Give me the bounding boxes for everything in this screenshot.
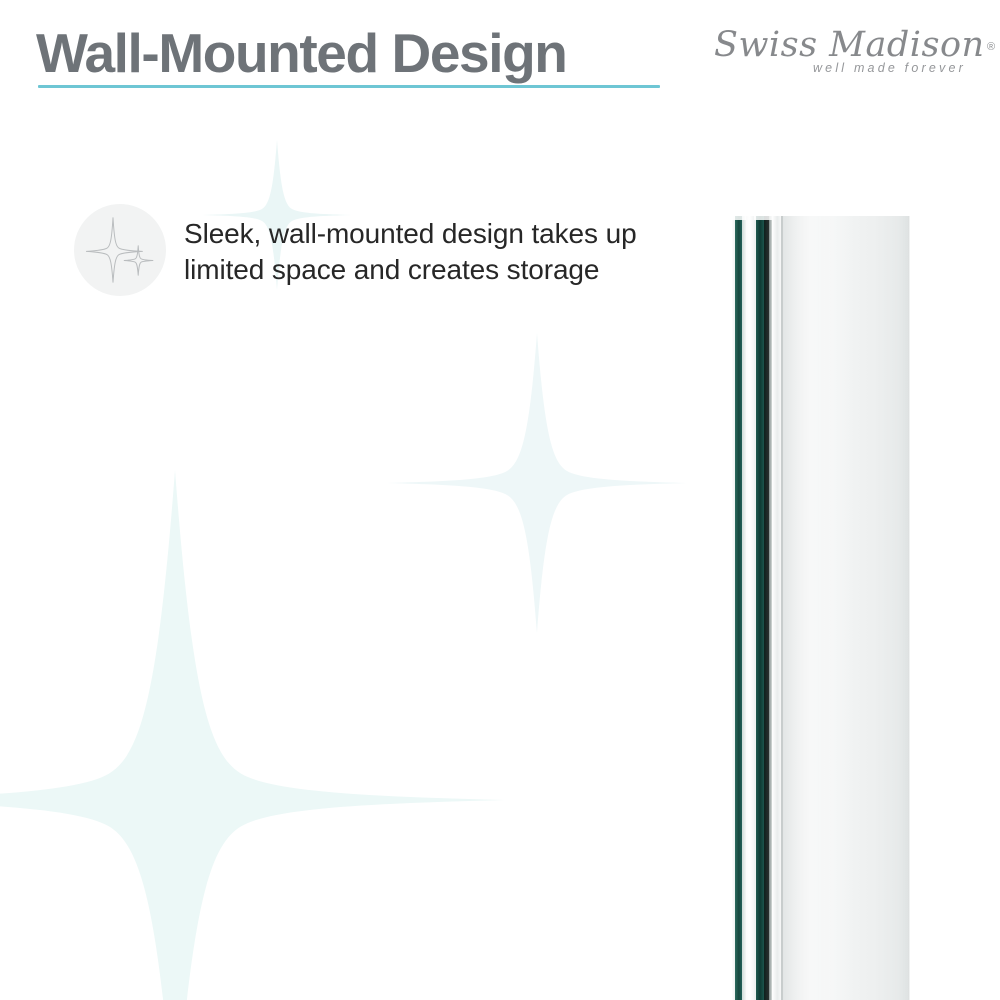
glass-edge-inner-green (756, 216, 764, 1000)
page-title: Wall-Mounted Design (36, 22, 567, 84)
panel-frame-bevel (772, 216, 781, 1000)
registered-trademark-icon: ® (987, 28, 996, 66)
feature-description: Sleek, wall-mounted design takes up limi… (184, 216, 674, 288)
feature-description-line-1: Sleek, wall-mounted design takes up (184, 216, 674, 252)
brand-logo: Swiss Madison® well made forever (714, 26, 972, 88)
panel-right-edge (908, 216, 910, 1000)
feature-description-line-2: limited space and creates storage (184, 252, 674, 288)
panel-mirror-face (783, 216, 908, 1000)
panel-top-cap-outer (732, 216, 746, 220)
product-image-glass-panel (722, 216, 1000, 1000)
panel-top-cap-inner (754, 216, 772, 220)
header: Wall-Mounted Design Swiss Madison® well … (0, 0, 1000, 110)
glass-edge-outer-green (735, 216, 742, 1000)
product-feature-slide: Wall-Mounted Design Swiss Madison® well … (0, 0, 1000, 1000)
feature-icon-badge (74, 204, 166, 296)
sparkle-watermark-large (0, 470, 505, 1000)
panel-gap (746, 216, 754, 1000)
sparkle-icon (85, 215, 155, 285)
title-underline-rule (38, 85, 660, 88)
brand-wordmark: Swiss Madison® (714, 26, 985, 64)
feature-callout: Sleek, wall-mounted design takes up limi… (74, 204, 674, 296)
sparkle-watermark-medium (387, 333, 687, 633)
brand-wordmark-text: Swiss Madison (714, 25, 985, 65)
